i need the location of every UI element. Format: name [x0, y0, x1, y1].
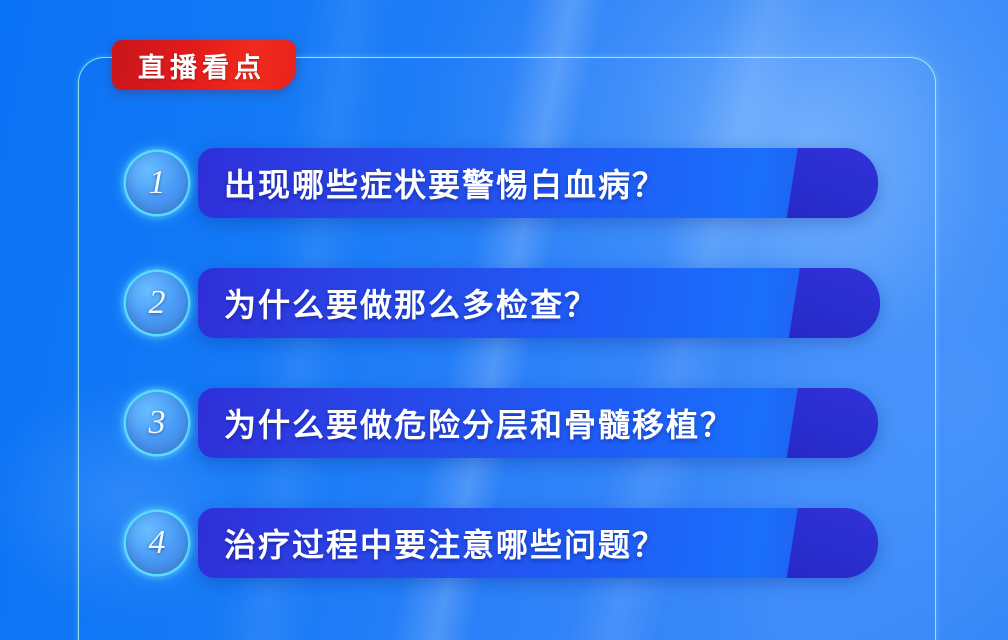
item-pill[interactable]: 出现哪些症状要警惕白血病？: [198, 148, 878, 218]
item-number-badge: 2: [126, 272, 188, 334]
section-title-banner: 直播看点: [112, 40, 296, 90]
item-number-text: 4: [149, 526, 166, 560]
item-number-badge: 4: [126, 512, 188, 574]
item-pill[interactable]: 为什么要做危险分层和骨髓移植？: [198, 388, 878, 458]
list-item[interactable]: 1 出现哪些症状要警惕白血病？: [0, 140, 1008, 260]
item-number-badge: 3: [126, 392, 188, 454]
item-number-badge: 1: [126, 152, 188, 214]
topic-list: 1 出现哪些症状要警惕白血病？ 2 为什么要做那么多检查？ 3 为什么要做危险分…: [0, 140, 1008, 620]
item-label: 治疗过程中要注意哪些问题？: [224, 520, 666, 566]
item-pill[interactable]: 治疗过程中要注意哪些问题？: [198, 508, 878, 578]
list-item[interactable]: 2 为什么要做那么多检查？: [0, 260, 1008, 380]
item-label: 为什么要做那么多检查？: [224, 280, 598, 326]
section-title-text: 直播看点: [138, 46, 266, 85]
list-item[interactable]: 3 为什么要做危险分层和骨髓移植？: [0, 380, 1008, 500]
item-number-text: 1: [149, 166, 166, 200]
item-number-text: 2: [149, 286, 166, 320]
list-item[interactable]: 4 治疗过程中要注意哪些问题？: [0, 500, 1008, 620]
item-label: 出现哪些症状要警惕白血病？: [224, 160, 666, 206]
item-label: 为什么要做危险分层和骨髓移植？: [224, 400, 734, 446]
item-pill[interactable]: 为什么要做那么多检查？: [198, 268, 880, 338]
item-number-text: 3: [149, 406, 166, 440]
